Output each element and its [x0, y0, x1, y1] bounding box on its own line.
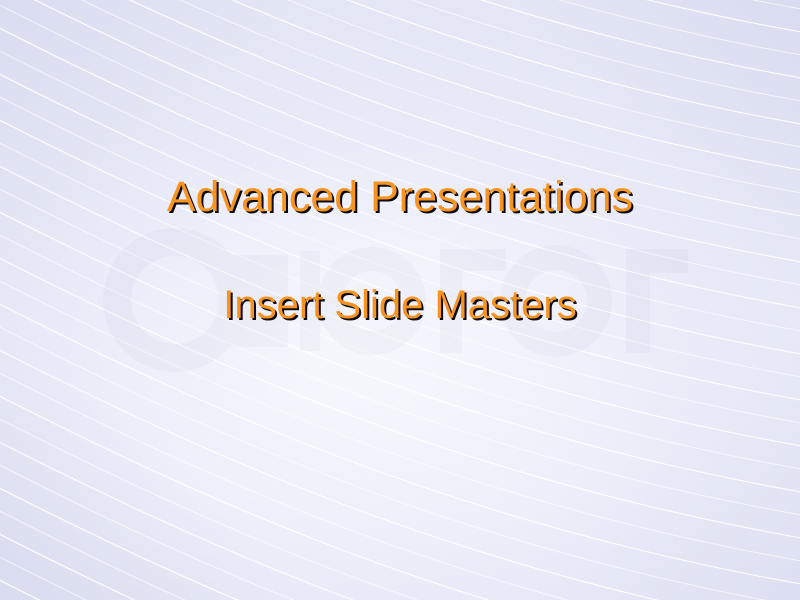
presentation-slide: Advanced Presentations Insert Slide Mast…	[0, 0, 800, 600]
slide-title: Advanced Presentations	[0, 172, 800, 222]
slide-subtitle: Insert Slide Masters	[0, 281, 800, 329]
slide-text-block: Advanced Presentations Insert Slide Mast…	[0, 0, 800, 600]
